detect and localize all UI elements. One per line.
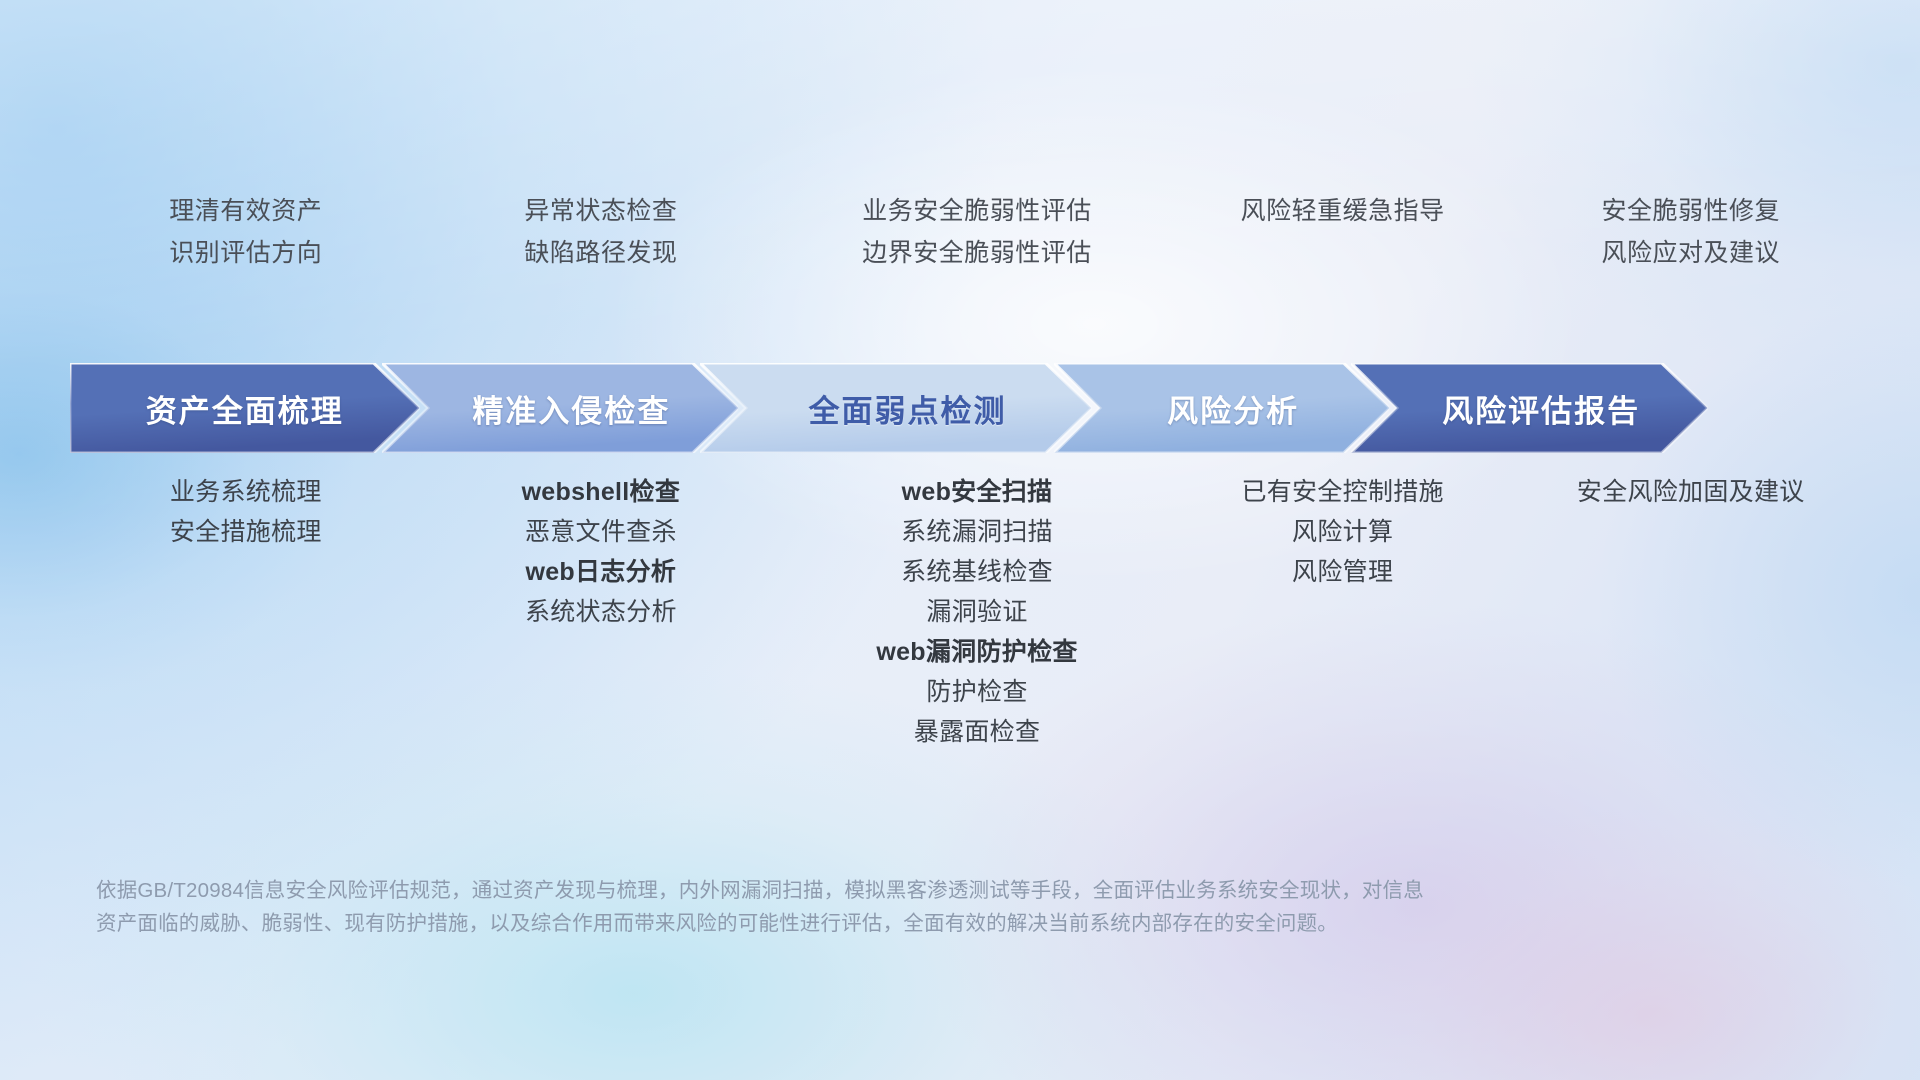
bottom-details-asset-inventory: 业务系统梳理安全措施梳理 [70, 472, 422, 552]
stage-arrow-label: 风险分析 [1167, 386, 1299, 431]
process-diagram: 理清有效资产识别评估方向异常状态检查缺陷路径发现业务安全脆弱性评估边界安全脆弱性… [0, 0, 1920, 1080]
bottom-details-intrusion-check: webshell检查恶意文件查杀web日志分析系统状态分析 [422, 472, 781, 632]
bottom-detail-item: 安全措施梳理 [70, 512, 422, 552]
stage-arrow-banner: 资产全面梳理 精准入侵检查 [70, 363, 1860, 453]
stage-arrow-label: 精准入侵检查 [472, 386, 670, 431]
bottom-detail-item: 恶意文件查杀 [422, 512, 781, 552]
stage-arrow-intrusion-check[interactable]: 精准入侵检查 [382, 363, 739, 453]
top-captions-asset-inventory: 理清有效资产识别评估方向 [70, 190, 422, 274]
top-caption-item: 异常状态检查 [422, 190, 781, 232]
bottom-detail-item: web安全扫描 [780, 472, 1174, 512]
top-captions-weakness-detection: 业务安全脆弱性评估边界安全脆弱性评估 [780, 190, 1174, 274]
bottom-details-weakness-detection: web安全扫描系统漏洞扫描系统基线检查漏洞验证web漏洞防护检查防护检查暴露面检… [780, 472, 1174, 752]
bottom-detail-item: 已有安全控制措施 [1174, 472, 1512, 512]
top-caption-item: 安全脆弱性修复 [1511, 190, 1870, 232]
bottom-details-row: 业务系统梳理安全措施梳理webshell检查恶意文件查杀web日志分析系统状态分… [70, 472, 1870, 752]
top-captions-row: 理清有效资产识别评估方向异常状态检查缺陷路径发现业务安全脆弱性评估边界安全脆弱性… [70, 190, 1870, 274]
stage-arrow-asset-inventory[interactable]: 资产全面梳理 [70, 363, 420, 453]
top-caption-item: 业务安全脆弱性评估 [780, 190, 1174, 232]
top-caption-item: 缺陷路径发现 [422, 232, 781, 274]
stage-arrow-risk-analysis[interactable]: 风险分析 [1054, 363, 1390, 453]
bottom-detail-item: 业务系统梳理 [70, 472, 422, 512]
top-caption-item: 风险应对及建议 [1511, 232, 1870, 274]
bottom-detail-item: 系统状态分析 [422, 592, 781, 632]
top-captions-risk-report: 安全脆弱性修复风险应对及建议 [1511, 190, 1870, 274]
stage-arrow-label: 全面弱点检测 [808, 386, 1006, 431]
bottom-detail-item: 风险管理 [1174, 552, 1512, 592]
stage-arrow-label: 资产全面梳理 [146, 386, 344, 431]
footer-line-2: 资产面临的威胁、脆弱性、现有防护措施，以及综合作用而带来风险的可能性进行评估，全… [96, 907, 1656, 940]
stage-arrow-risk-report[interactable]: 风险评估报告 [1351, 363, 1708, 453]
bottom-detail-item: 系统基线检查 [780, 552, 1174, 592]
bottom-detail-item: 漏洞验证 [780, 592, 1174, 632]
stage-arrow-weakness-detection[interactable]: 全面弱点检测 [700, 363, 1092, 453]
bottom-details-risk-report: 安全风险加固及建议 [1511, 472, 1870, 512]
top-caption-item: 风险轻重缓急指导 [1174, 190, 1512, 232]
bottom-detail-item: 暴露面检查 [780, 712, 1174, 752]
bottom-detail-item: 系统漏洞扫描 [780, 512, 1174, 552]
bottom-details-risk-analysis: 已有安全控制措施风险计算风险管理 [1174, 472, 1512, 592]
top-caption-item: 识别评估方向 [70, 232, 422, 274]
bottom-detail-item: 风险计算 [1174, 512, 1512, 552]
bottom-detail-item: web漏洞防护检查 [780, 632, 1174, 672]
bottom-detail-item: web日志分析 [422, 552, 781, 592]
footer-line-1: 依据GB/T20984信息安全风险评估规范，通过资产发现与梳理，内外网漏洞扫描，… [96, 874, 1656, 907]
bottom-detail-item: webshell检查 [422, 472, 781, 512]
footer-description: 依据GB/T20984信息安全风险评估规范，通过资产发现与梳理，内外网漏洞扫描，… [96, 874, 1656, 940]
top-caption-item: 理清有效资产 [70, 190, 422, 232]
stage-arrow-label: 风险评估报告 [1442, 386, 1640, 431]
bottom-detail-item: 安全风险加固及建议 [1511, 472, 1870, 512]
top-captions-risk-analysis: 风险轻重缓急指导 [1174, 190, 1512, 274]
top-caption-item: 边界安全脆弱性评估 [780, 232, 1174, 274]
top-captions-intrusion-check: 异常状态检查缺陷路径发现 [422, 190, 781, 274]
bottom-detail-item: 防护检查 [780, 672, 1174, 712]
